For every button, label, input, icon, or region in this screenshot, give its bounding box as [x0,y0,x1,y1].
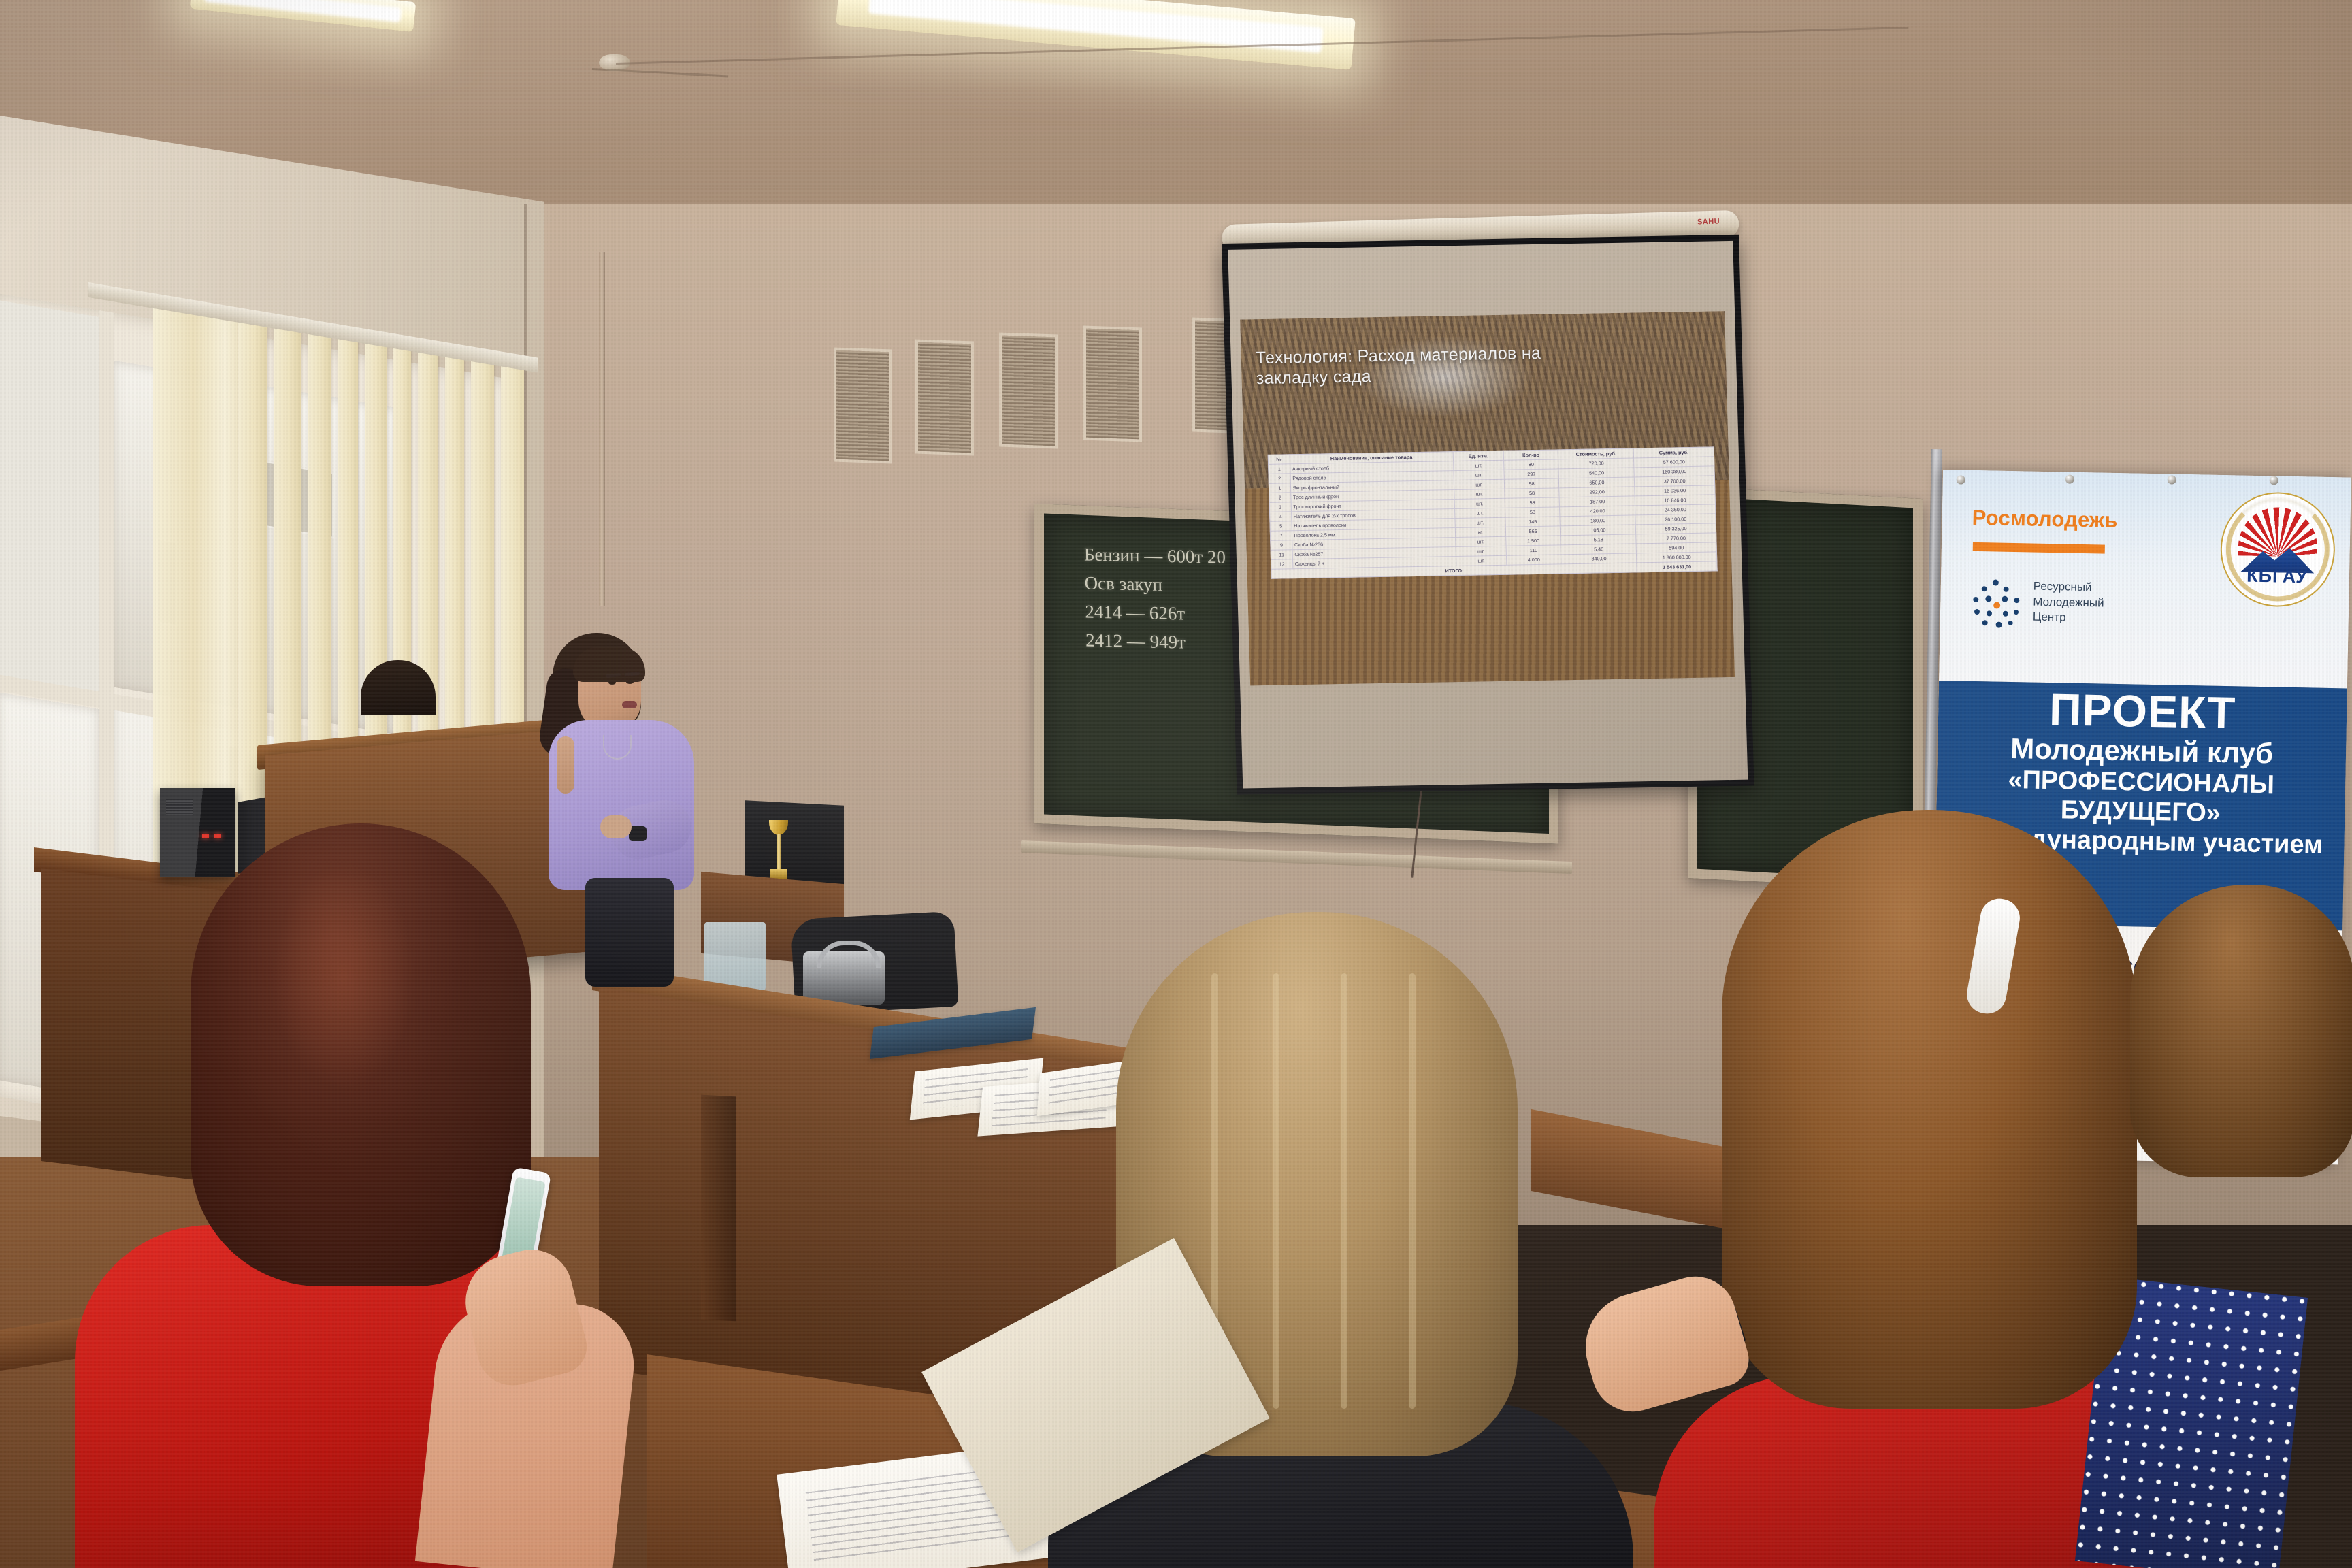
table-cell: 11 [1271,550,1293,560]
electric-kettle [803,951,885,1004]
table-cell: шт. [1454,479,1505,489]
banner-eyelet [2270,476,2278,485]
audience-member-far-right [2130,885,2352,1252]
resource-center-dots-icon [1971,579,2022,630]
screen-brand-label: SAHU [1697,218,1720,227]
rosmolodezh-wordmark: Росмолодежь [1972,506,2118,533]
table-cell: 2 [1269,493,1291,503]
table-cell: шт. [1456,536,1507,546]
table-cell: 110 [1506,545,1561,555]
table-cell: 58 [1504,478,1559,489]
wall-vent-grille-1 [834,347,892,463]
resource-center-label: РесурсныйМолодежныйЦентр [2033,579,2105,627]
table-cell: шт. [1454,489,1505,499]
table-cell: кг. [1455,527,1506,537]
table-cell: шт. [1454,508,1505,518]
award-plaque [745,800,844,887]
projector-screen-surface: Технология: Расход материалов на закладк… [1228,241,1748,789]
table-cell: 5 [1270,521,1292,532]
table-cell: 7 [1271,531,1292,541]
table-leg [701,1095,736,1322]
banner-eyelet [1957,475,1965,484]
table-cell: 297 [1504,469,1559,479]
wall-vent-grille-3 [999,332,1058,448]
table-cell: шт. [1453,460,1504,470]
table-cell: шт. [1456,555,1507,566]
table-cell: шт. [1454,470,1505,480]
table-cell: 565 [1505,526,1561,536]
table-cell: 9 [1271,540,1292,551]
wall-vent-grille-2 [915,339,974,455]
table-cell: 58 [1505,497,1560,508]
table-cell: 4 [1270,512,1292,522]
trophy-cup [769,820,788,883]
presenter-shoulder-cutout [557,736,574,794]
table-cell: 1 [1269,483,1291,493]
window-pane-upper-left [0,300,99,698]
audience-member-blonde [1075,912,1620,1568]
col-quantity: Кол-во [1503,450,1558,460]
table-cell: 145 [1505,517,1561,527]
table-cell: 3 [1270,502,1292,512]
classroom-photo-scene: Бензин — 600т 20 Осв закуп 2414 — 626т 2… [0,0,2352,1568]
table-cell: 1 [1269,464,1290,474]
banner-eyelet [2065,474,2074,483]
table-cell: 12 [1271,559,1293,570]
audience-member-red-top [143,823,701,1568]
audience-far-hair [2130,885,2352,1177]
table-cell: шт. [1454,498,1505,508]
banner-top-section: Росмолодежь РесурсныйМолодежныйЦентр [1939,470,2351,688]
banner-project-word: ПРОЕКТ [1938,685,2347,738]
table-cell: 58 [1505,507,1561,517]
table-cell: 58 [1505,488,1560,498]
slide-title: Технология: Расход материалов на закладк… [1256,342,1620,389]
table-cell: 80 [1504,459,1559,470]
wall-pipe [599,252,605,606]
total-value: 1 543 631,00 [1637,561,1717,572]
col-unit: Ед. изм. [1453,451,1504,461]
table-cell: 2 [1269,474,1290,484]
rosmolodezh-bar-icon [1973,542,2105,554]
audience-brunette-hair [1722,810,2137,1409]
table-cell: 4 000 [1506,555,1561,565]
slide-materials-table: № Наименование, описание товара Ед. изм.… [1268,447,1717,579]
banner-eyelet [2168,475,2176,484]
table-body: 1Анкерный столбшт.80720,0057 600,002Рядо… [1269,457,1717,578]
kbgau-ring [2219,491,2336,608]
table-cell: шт. [1455,517,1506,527]
presentation-slide: Технология: Расход материалов на закладк… [1240,311,1735,686]
kbgau-logo: КБГАУ [2219,491,2336,608]
table-cell: шт. [1456,546,1507,556]
col-index: № [1269,455,1290,465]
table-cell: 1 500 [1506,536,1561,546]
wall-vent-grille-4 [1083,325,1142,442]
projector-screen: Технология: Расход материалов на закладк… [1222,235,1754,795]
